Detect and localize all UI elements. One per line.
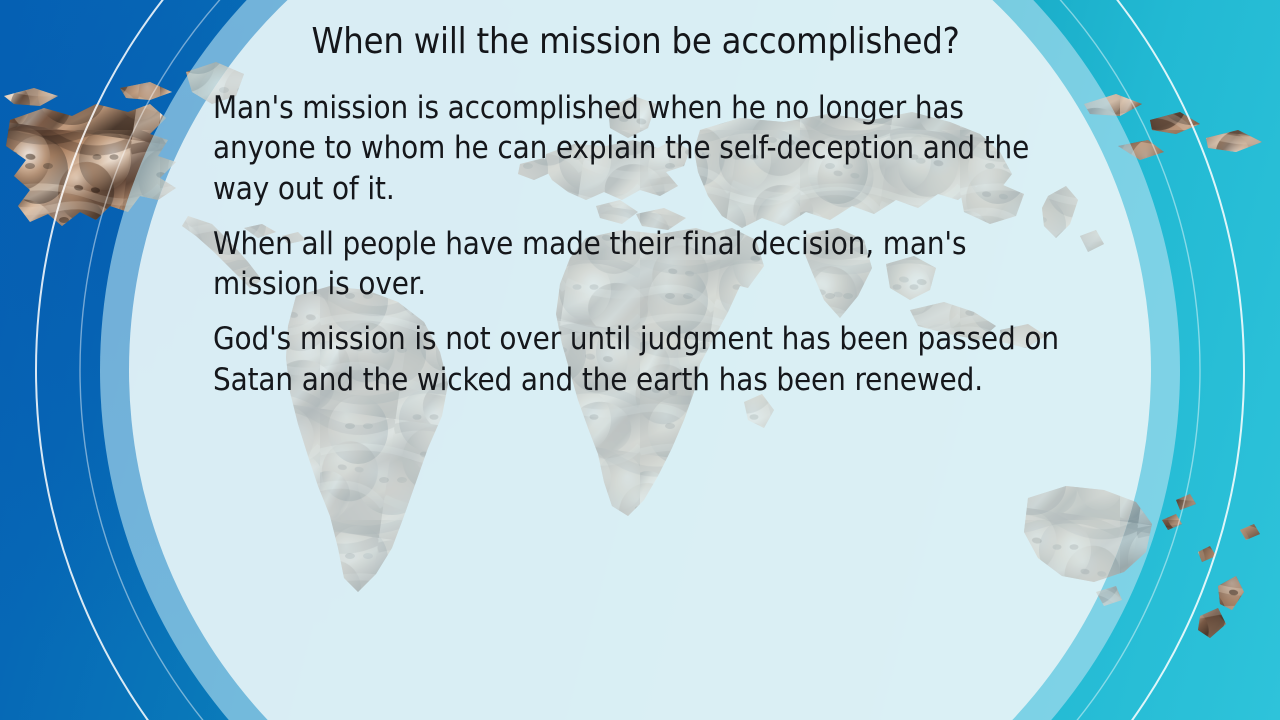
body-text-block: Man's mission is accomplished when he no… bbox=[213, 88, 1065, 400]
presentation-slide: When will the mission be accomplished? M… bbox=[0, 0, 1280, 720]
body-paragraph-1: Man's mission is accomplished when he no… bbox=[213, 88, 1065, 209]
page-title: When will the mission be accomplished? bbox=[213, 21, 1058, 62]
slide-content: When will the mission be accomplished? M… bbox=[0, 0, 1280, 720]
body-paragraph-2: When all people have made their final de… bbox=[213, 224, 1065, 305]
body-paragraph-3: God's mission is not over until judgment… bbox=[213, 319, 1065, 400]
